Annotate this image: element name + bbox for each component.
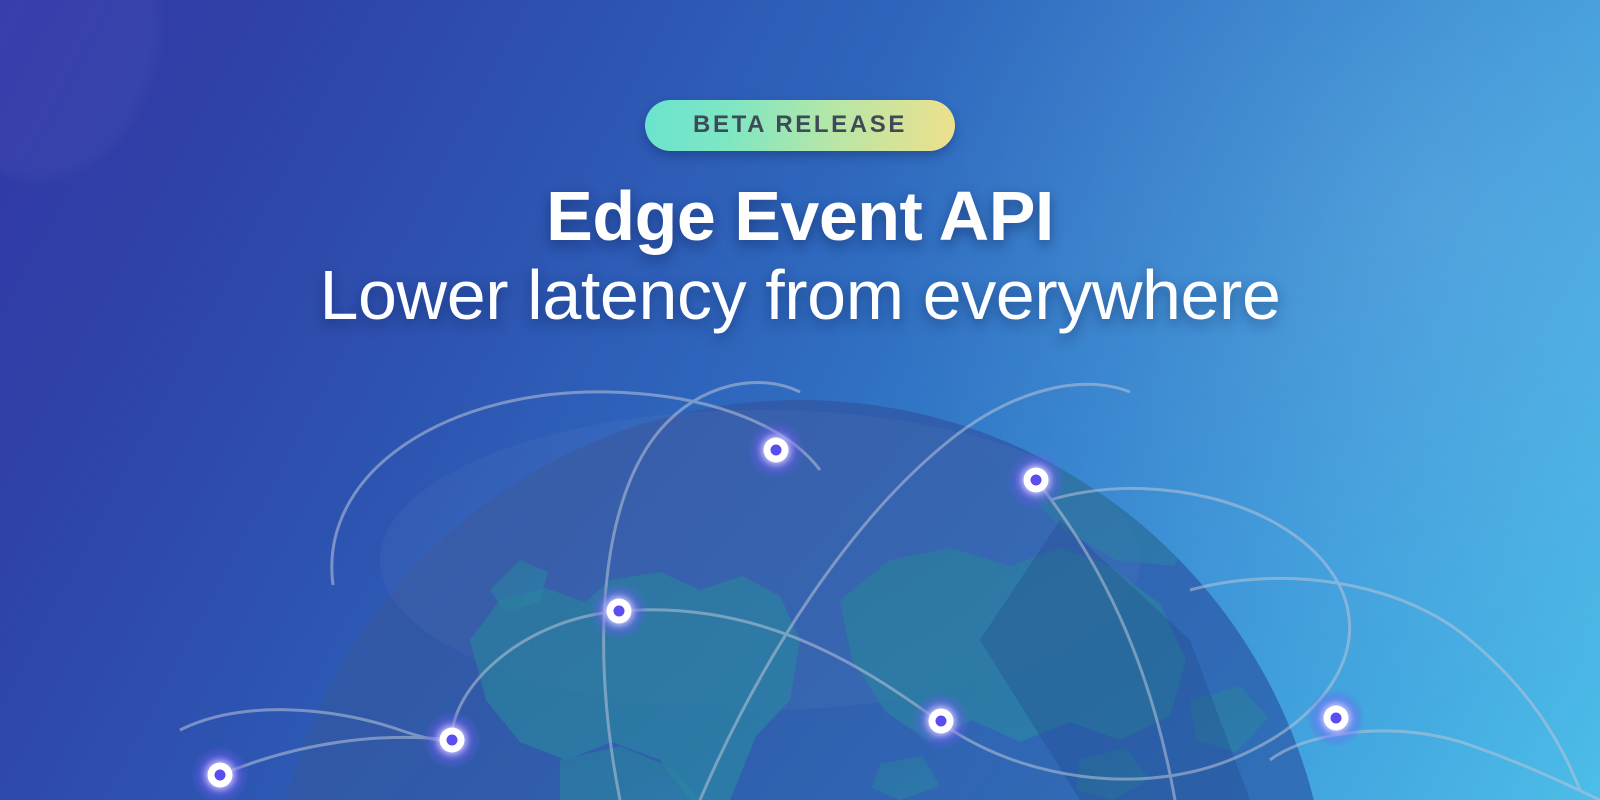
node-core [771,445,782,456]
orbit-arc-9 [220,737,452,775]
orbit-arc-1 [332,392,820,585]
node-northeast[interactable] [1008,452,1064,508]
node-core [447,735,458,746]
node-core [1031,475,1042,486]
landmass-east-island-b [1076,748,1150,800]
banner-content: BETA RELEASE Edge Event API Lower latenc… [0,0,1600,333]
node-southwest[interactable] [424,712,480,768]
orbit-arc-7 [180,710,452,741]
landmass-west-south [560,746,700,800]
node-center-west[interactable] [591,583,647,639]
node-south-center[interactable] [913,693,969,749]
orbit-arcs [180,382,1600,800]
orbit-arc-5 [452,488,1350,779]
orbit-arc-4 [1036,480,1175,800]
hero-banner: BETA RELEASE Edge Event API Lower latenc… [0,0,1600,800]
node-core [1331,713,1342,724]
node-core [614,606,625,617]
orbit-arc-6 [1190,578,1580,790]
page-title: Edge Event API [0,181,1600,252]
node-core [936,716,947,727]
node-north[interactable] [748,422,804,478]
landmass-east-island-a [1190,686,1268,752]
landmass-east-island-c [872,756,940,800]
status-badge[interactable]: BETA RELEASE [645,100,955,151]
globe-landmasses [470,452,1268,800]
globe-shadow-band [980,520,1250,800]
page-subtitle: Lower latency from everywhere [0,258,1600,332]
landmass-east [840,548,1186,742]
landmass-west-spur [490,560,548,612]
node-core [215,770,226,781]
node-east[interactable] [1308,690,1364,746]
node-far-southwest[interactable] [192,747,248,800]
